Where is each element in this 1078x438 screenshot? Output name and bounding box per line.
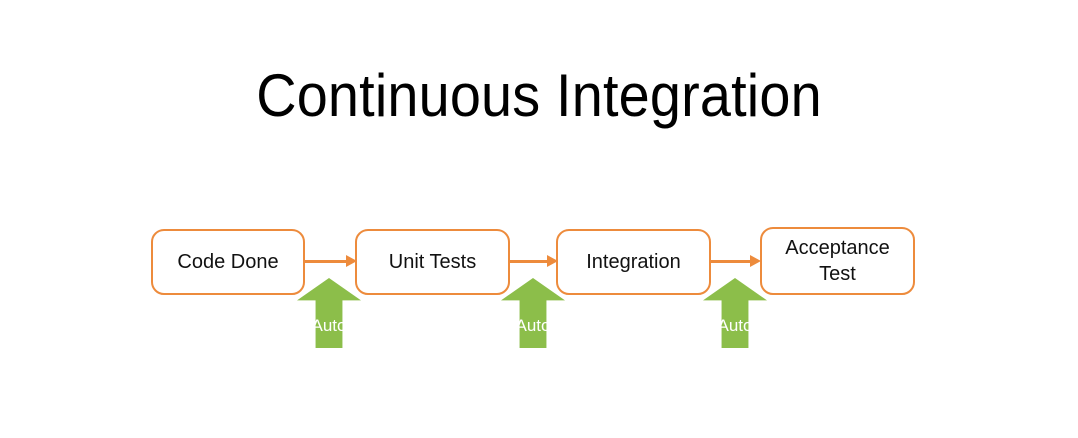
up-arrow-icon [501,278,565,348]
up-arrow-icon [297,278,361,348]
up-arrow-icon [703,278,767,348]
auto-trigger-1[interactable]: Auto [297,278,361,348]
stage-label-line-1: Acceptance [785,235,890,261]
auto-trigger-2[interactable]: Auto [501,278,565,348]
stage-label: Integration [586,250,681,275]
connector-line [305,260,347,263]
connector-integration-to-acceptance-test [711,252,761,272]
stage-box-unit-tests[interactable]: Unit Tests [355,229,510,295]
stage-box-integration[interactable]: Integration [556,229,711,295]
stage-label: Unit Tests [389,250,476,275]
stage-label-line-2: Test [819,261,856,287]
auto-trigger-3[interactable]: Auto [703,278,767,348]
connector-code-done-to-unit-tests [305,252,357,272]
stage-box-acceptance-test[interactable]: Acceptance Test [760,227,915,295]
stage-box-code-done[interactable]: Code Done [151,229,305,295]
connector-unit-tests-to-integration [510,252,558,272]
continuous-integration-diagram: Continuous Integration Auto Auto Auto Co… [0,0,1078,438]
page-title: Continuous Integration [38,60,1041,132]
stage-label: Code Done [177,250,278,275]
connector-line [711,260,751,263]
connector-line [510,260,548,263]
